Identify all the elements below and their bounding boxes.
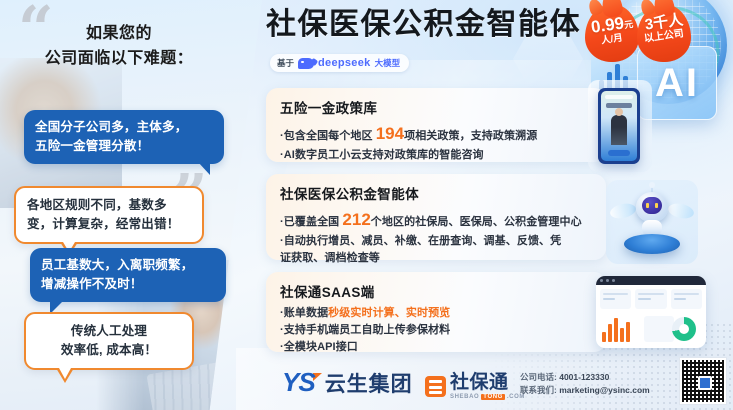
card-3-title: 社保通SAAS端 [280,281,592,301]
shebaotong-logo: 社保通 SHEBAO TONG .COM [425,373,525,400]
robot-wing-right [667,201,695,220]
page-title: 社保医保公积金智能体 [266,10,581,40]
robot-face [642,197,662,214]
phone-label: 公司电话: [520,372,557,382]
robot-base [624,234,680,254]
card-2-line-3: 证获取、调档检查等 [280,250,592,267]
bubble-1-line2: 五险一金管理分散！ [35,137,213,156]
dashboard-pane-3 [671,289,702,309]
bubble-3-line1: 员工基数大，入离职频繁， [41,256,215,275]
deepseek-prefix: 基于 [277,57,294,69]
pain-point-bubbles: 全国分子公司多，主体多， 五险一金管理分散！ 各地区规则不同，基数多 变，计算复… [0,0,262,410]
bubble-4-line2: 效率低, 成本高！ [37,341,181,360]
pain-point-bubble-1: 全国分子公司多，主体多， 五险一金管理分散！ [24,110,224,164]
bubble-1-line1: 全国分子公司多，主体多， [35,118,213,137]
pain-point-bubble-2: 各地区规则不同，基数多 变，计算复杂，经常出错！ [14,186,204,244]
phone-value: 4001-123330 [559,372,609,382]
bubble-2-line2: 变，计算复杂，经常出错！ [27,215,191,234]
pain-point-bubble-3: 员工基数大，入离职频繁， 增减操作不及时！ [30,248,226,302]
email-value: marketing@ysinc.com [559,385,650,395]
whale-icon [298,58,314,69]
scale-badge: 3千人 以上公司 [637,4,691,62]
card-3-line-2: ·支持手机端员工自助上传参保材料 [280,322,592,339]
dashboard-pane-2 [635,289,666,309]
feature-card-policy-library: 五险一金政策库 ·包含全国每个地区 194项相关政策，支持政策溯源 ·AI数字员… [266,88,606,162]
bubble-3-line2: 增减操作不及时！ [41,275,215,294]
feature-card-saas: 社保通SAAS端 ·账单数据秒级实时计算、实时预览 ·支持手机端员工自助上传参保… [266,272,606,352]
shebaotong-en-text: SHEBAO TONG .COM [450,394,525,400]
card-3-line-1: ·账单数据秒级实时计算、实时预览 [280,305,592,322]
price-badge: 0.99元 人/月 [585,4,639,62]
policy-count: 194 [376,124,404,143]
phone-mockup [598,88,640,164]
poster-root: AI “ ” 如果您的 公司面临以下难题： 全国分子公司多，主体多， 五险一金管… [0,0,733,410]
contact-info: 公司电话: 4001-123330 联系我们: marketing@ysinc.… [520,371,650,398]
dashboard-donut-chart [672,317,696,341]
digital-employee-avatar [611,115,627,145]
robot-mascot-icon [606,180,698,264]
qr-code-pattern [682,360,724,402]
card-2-line-1: ·已覆盖全国 212个地区的社保局、医保局、公积金管理中心 [280,207,592,233]
ys-group-logo: YS 云生集团 [282,367,413,398]
card-2-line-2: ·自动执行增员、减员、补缴、在册查询、调基、反馈、凭 [280,233,592,250]
card-2-title: 社保医保公积金智能体 [280,183,592,203]
contact-phone-row: 公司电话: 4001-123330 [520,371,650,385]
shebaotong-logo-text: 社保通 SHEBAO TONG .COM [450,373,525,400]
region-count: 212 [342,210,370,229]
phone-screen [601,91,637,161]
card-1-line-1: ·包含全国每个地区 194项相关政策，支持政策溯源 [280,121,592,147]
email-label: 联系我们: [520,385,557,395]
footer: YS 云生集团 社保通 SHEBAO TONG .COM 公司电话: 4001-… [0,358,733,410]
dashboard-bar-chart [602,316,638,342]
dashboard-titlebar [596,276,706,285]
feature-card-agent: 社保医保公积金智能体 ·已覆盖全国 212个地区的社保局、医保局、公积金管理中心… [266,174,606,260]
deepseek-badge: 基于 deepseek 大模型 [270,54,409,72]
shebaotong-en-left: SHEBAO [450,394,479,400]
bubble-4-line1: 传统人工处理 [37,322,181,341]
shebaotong-mark-icon [425,376,446,397]
dashboard-list-pane [644,316,674,342]
ys-logo-cn-text: 云生集团 [325,368,413,398]
card-1-title: 五险一金政策库 [280,97,592,117]
ys-logo-text: YS [282,367,315,398]
robot-wing-left [609,201,637,220]
qr-code[interactable] [679,357,727,405]
shebaotong-cn-text: 社保通 [450,373,525,392]
saas-highlight: 秒级实时计算、实时预览 [328,307,450,319]
phone-screen-button [608,150,630,156]
dashboard-panes [596,285,706,313]
bubble-2-line1: 各地区规则不同，基数多 [27,196,191,215]
shebaotong-en-mid: TONG [481,394,505,400]
dashboard-mockup [596,276,706,348]
deepseek-suffix: 大模型 [375,57,401,69]
dashboard-pane-1 [600,289,631,309]
card-3-line-3: ·全模块API接口 [280,339,592,356]
phone-screen-header [605,95,633,99]
bubble-1-tail [198,162,210,175]
deepseek-brand: deepseek [318,57,371,69]
contact-email-row: 联系我们: marketing@ysinc.com [520,384,650,398]
card-1-line-2: ·AI数字员工小云支持对政策库的智能咨询 [280,147,592,164]
